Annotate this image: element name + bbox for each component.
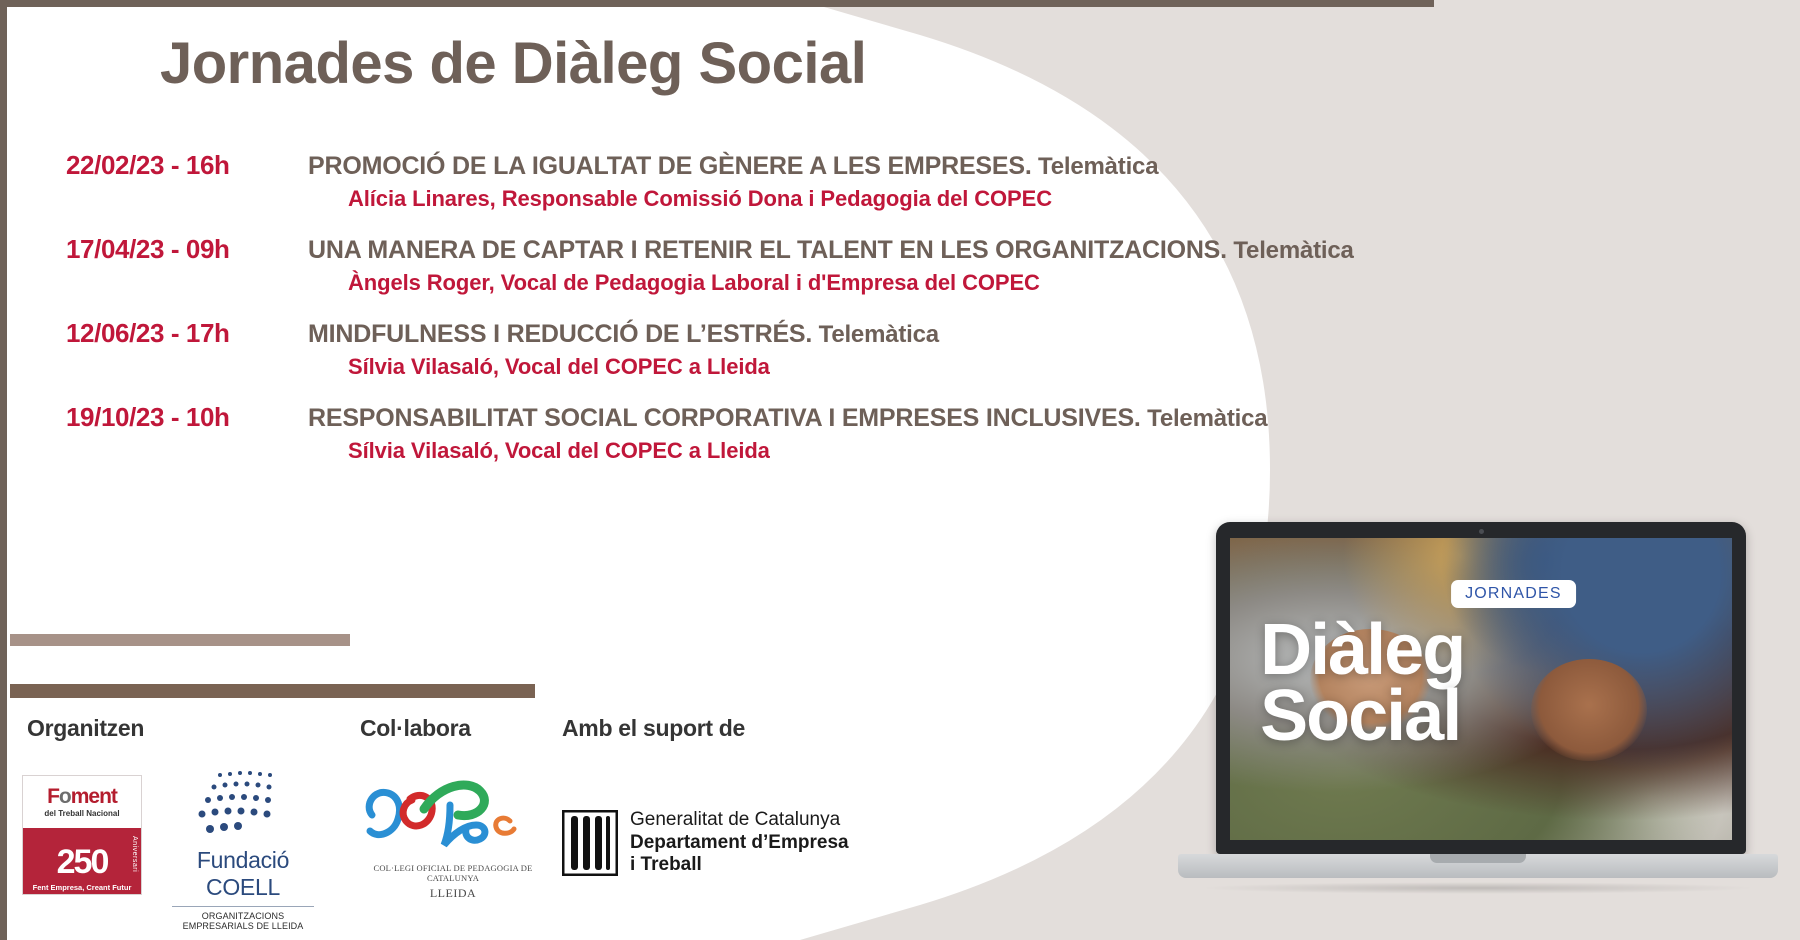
session-headline: 19/10/23 - 10h RESPONSABILITAT SOCIAL CO… [0,402,1720,433]
copec-city: LLEIDA [358,886,548,901]
coell-dot-mark-icon [168,767,318,847]
session-date: 22/02/23 - 16h [66,150,274,181]
jornades-badge: JORNADES [1451,580,1576,608]
foment-anniversary-number: 250 [57,845,108,879]
generalitat-shield-svg [562,810,618,876]
laptop-mockup: JORNADES Diàleg Social [1178,522,1778,922]
session-headline: 17/04/23 - 09h UNA MANERA DE CAPTAR I RE… [0,234,1720,265]
generalitat-text: Generalitat de Catalunya Departament d’E… [630,809,849,876]
coell-subtitle: ORGANITZACIONS EMPRESARIALS DE LLEIDA [168,911,318,931]
generalitat-shield-icon [562,810,618,876]
session-item: 22/02/23 - 16h PROMOCIÓ DE LA IGUALTAT D… [0,150,1720,212]
screen-title: Diàleg Social [1260,617,1464,749]
session-speaker: Sílvia Vilasaló, Vocal del COPEC a Lleid… [0,438,1720,464]
foment-anniversary-block: 250 Aniversari Fent Empresa, Creant Futu… [23,828,141,895]
frame-left-border [0,0,7,940]
copec-subtitle: COL·LEGI OFICIAL DE PEDAGOGIA DE CATALUN… [358,863,548,883]
session-title-text: RESPONSABILITAT SOCIAL CORPORATIVA I EMP… [308,404,1141,432]
foment-anniversary-label: Aniversari [131,836,138,872]
session-title: UNA MANERA DE CAPTAR I RETENIR EL TALENT… [308,236,1354,265]
session-headline: 12/06/23 - 17h MINDFULNESS I REDUCCIÓ DE… [0,318,1720,349]
webcam-icon [1479,529,1484,534]
foment-subtitle: del Treball Nacional [44,809,119,818]
laptop-notch [1430,854,1526,863]
session-date: 17/04/23 - 09h [66,234,274,265]
session-title: RESPONSABILITAT SOCIAL CORPORATIVA I EMP… [308,404,1267,433]
foment-wordmark-block: Foment del Treball Nacional [23,776,141,828]
poster-canvas: Jornades de Diàleg Social 22/02/23 - 16h… [0,0,1800,940]
coell-dots-svg [168,767,318,847]
foment-tagline: Fent Empresa, Creant Futur [23,883,141,892]
sponsor-headings: Organitzen Col·labora Amb el suport de [0,715,1000,755]
foment-wordmark: Foment [47,786,117,807]
laptop-shadow [1198,882,1758,894]
session-list: 22/02/23 - 16h PROMOCIÓ DE LA IGUALTAT D… [0,150,1720,486]
session-item: 17/04/23 - 09h UNA MANERA DE CAPTAR I RE… [0,234,1720,296]
session-title-text: MINDFULNESS I REDUCCIÓ DE L’ESTRÉS. [308,320,812,348]
sponsors-section: Organitzen Col·labora Amb el suport de F… [0,715,1000,755]
session-item: 19/10/23 - 10h RESPONSABILITAT SOCIAL CO… [0,402,1720,464]
copec-logo: COL·LEGI OFICIAL DE PEDAGOGIA DE CATALUN… [358,763,548,913]
session-speaker: Sílvia Vilasaló, Vocal del COPEC a Lleid… [0,354,1720,380]
coell-logo: Fundació COELL ORGANITZACIONS EMPRESARIA… [168,767,318,907]
session-title-text: PROMOCIÓ DE LA IGUALTAT DE GÈNERE A LES … [308,152,1032,180]
laptop-screen: JORNADES Diàleg Social [1230,538,1732,840]
divider-upper [10,634,350,646]
heading-collabora: Col·labora [360,715,471,742]
heading-organitzen: Organitzen [27,715,144,742]
coell-name: Fundació COELL [168,847,318,901]
foment-logo: Foment del Treball Nacional 250 Aniversa… [22,775,142,895]
copec-mark-svg [358,763,548,863]
laptop-lid: JORNADES Diàleg Social [1216,522,1746,854]
session-title: PROMOCIÓ DE LA IGUALTAT DE GÈNERE A LES … [308,152,1158,181]
generalitat-line3: i Treball [630,854,849,876]
session-title: MINDFULNESS I REDUCCIÓ DE L’ESTRÉS. Tele… [308,320,939,349]
session-mode: Telemàtica [1141,405,1268,432]
generalitat-line1: Generalitat de Catalunya [630,809,849,831]
session-mode: Telemàtica [1032,153,1159,180]
divider-lower [10,684,535,698]
generalitat-logo: Generalitat de Catalunya Departament d’E… [562,793,882,893]
frame-top-border [0,0,1434,7]
session-date: 19/10/23 - 10h [66,402,274,433]
session-item: 12/06/23 - 17h MINDFULNESS I REDUCCIÓ DE… [0,318,1720,380]
copec-wordmark-icon [358,763,548,863]
session-speaker: Àngels Roger, Vocal de Pedagogia Laboral… [0,270,1720,296]
logo-row: Foment del Treball Nacional 250 Aniversa… [0,763,1000,940]
session-date: 12/06/23 - 17h [66,318,274,349]
heading-suport: Amb el suport de [562,715,745,742]
coell-divider [172,906,314,907]
photo-person-right [1531,659,1646,762]
page-title: Jornades de Diàleg Social [160,30,866,97]
session-mode: Telemàtica [812,321,939,348]
session-speaker: Alícia Linares, Responsable Comissió Don… [0,186,1720,212]
screen-title-line2: Social [1260,683,1464,749]
laptop-base [1178,854,1778,878]
session-title-text: UNA MANERA DE CAPTAR I RETENIR EL TALENT… [308,236,1227,264]
session-headline: 22/02/23 - 16h PROMOCIÓ DE LA IGUALTAT D… [0,150,1720,181]
generalitat-line2: Departament d’Empresa [630,832,849,854]
session-mode: Telemàtica [1227,237,1354,264]
